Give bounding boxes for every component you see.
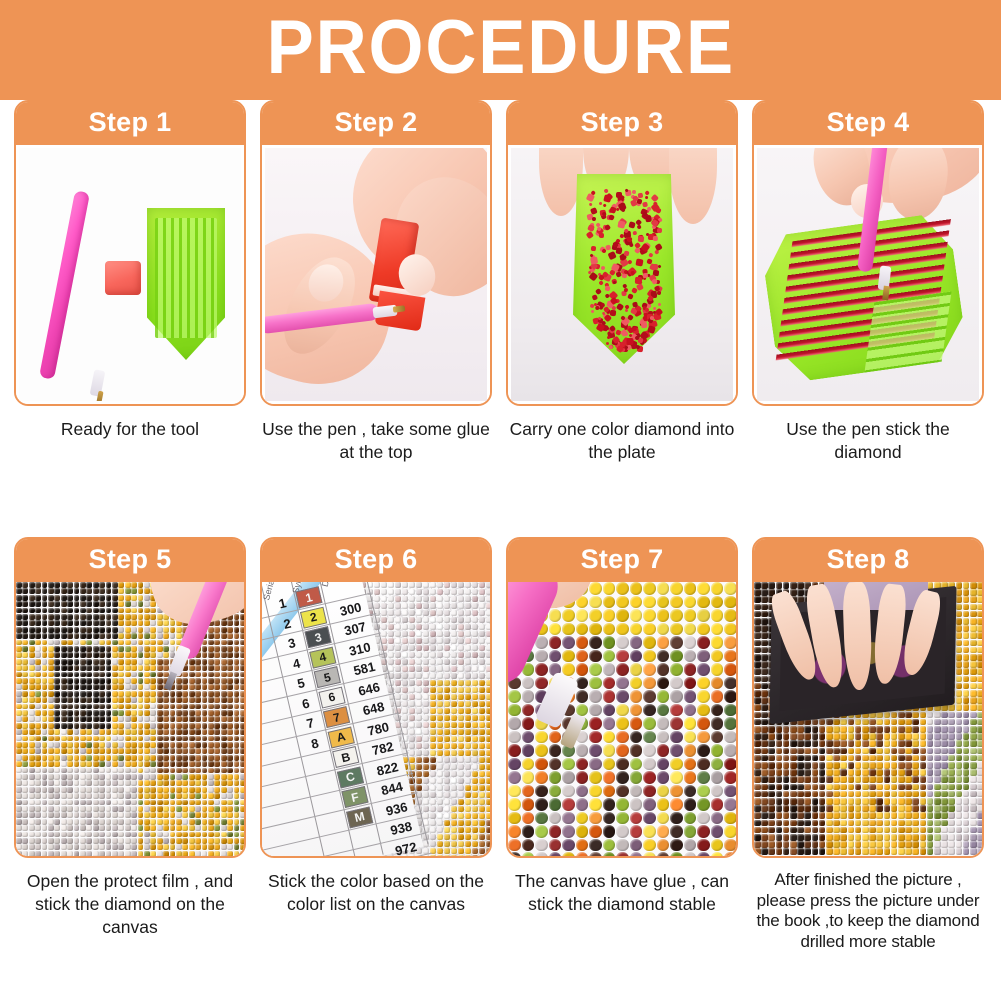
diamond-bead (48, 659, 54, 665)
diamond-bead (118, 755, 124, 761)
diamond-bead (657, 717, 670, 730)
diamond-bead (684, 812, 697, 825)
diamond-bead (465, 827, 471, 833)
diamond-bead (16, 614, 22, 620)
diamond-bead (855, 820, 862, 827)
diamond-bead (826, 805, 833, 812)
diamond-bead (970, 604, 977, 611)
diamond-bead (35, 774, 41, 780)
diamond-bead (106, 620, 112, 626)
diamond-bead (948, 712, 955, 719)
diamond-bead (761, 632, 768, 639)
diamond-bead (240, 755, 244, 761)
diamond-bead (562, 798, 575, 811)
diamond-bead (112, 780, 118, 786)
diamond-bead (423, 708, 429, 714)
diamond-bead (112, 588, 118, 594)
diamond-bead (724, 825, 736, 838)
diamond-bead (934, 805, 941, 812)
diamond-bead (670, 744, 683, 757)
diamond-bead (423, 582, 429, 588)
diamond-bead (927, 820, 934, 827)
diamond-bead (125, 588, 131, 594)
diamond-bead (869, 805, 876, 812)
diamond-bead (48, 774, 54, 780)
diamond-bead (48, 755, 54, 761)
diamond-bead (202, 736, 208, 742)
diamond-bead (956, 676, 963, 683)
diamond-bead (16, 684, 22, 690)
diamond-bead (42, 755, 48, 761)
diamond-bead (221, 748, 227, 754)
diamond-bead (54, 672, 60, 678)
diamond-bead (106, 832, 112, 838)
diamond-bead (35, 832, 41, 838)
diamond-bead (80, 678, 86, 684)
diamond-bead (898, 776, 905, 783)
diamond-bead (444, 603, 450, 609)
diamond-bead (684, 731, 697, 744)
diamond-bead (131, 723, 137, 729)
diamond-bead (29, 768, 35, 774)
diamond-bead (963, 769, 970, 776)
diamond-bead (977, 791, 982, 798)
diamond-bead (905, 827, 912, 834)
diamond-bead (67, 838, 73, 844)
diamond-bead (182, 793, 188, 799)
diamond-bead (227, 768, 233, 774)
diamond-bead (214, 825, 220, 831)
diamond-bead (458, 645, 464, 651)
diamond-bead (472, 855, 478, 856)
diamond-bead (761, 841, 768, 848)
step-7-header: Step 7 (508, 539, 736, 582)
diamond-bead (80, 812, 86, 818)
diamond-bead (934, 726, 941, 733)
diamond-bead (790, 812, 797, 819)
diamond-bead (451, 596, 457, 602)
diamond-bead (42, 838, 48, 844)
diamond-bead (486, 638, 490, 644)
diamond-bead (437, 813, 443, 819)
diamond-bead (956, 776, 963, 783)
diamond-bead (54, 595, 60, 601)
diamond-bead (381, 624, 387, 630)
diamond-bead (54, 812, 60, 818)
diamond-bead (67, 665, 73, 671)
diamond-bead (804, 784, 811, 791)
diamond-bead (576, 785, 589, 798)
diamond-bead (106, 646, 112, 652)
diamond-bead (202, 780, 208, 786)
diamond-bead (214, 755, 220, 761)
diamond-bead (202, 672, 208, 678)
diamond-bead (22, 678, 28, 684)
diamond-bead (131, 742, 137, 748)
diamond-bead (848, 791, 855, 798)
diamond-bead (99, 684, 105, 690)
diamond-bead (977, 733, 982, 740)
diamond-bead (112, 723, 118, 729)
diamond-bead (472, 736, 478, 742)
diamond-bead (67, 646, 73, 652)
diamond-bead (138, 825, 144, 831)
diamond-bead (920, 740, 927, 747)
diamond-bead (144, 787, 150, 793)
diamond-bead (80, 768, 86, 774)
diamond-bead (144, 614, 150, 620)
diamond-drill (632, 190, 636, 194)
diamond-bead (977, 704, 982, 711)
diamond-bead (630, 771, 643, 784)
diamond-bead (214, 793, 220, 799)
diamond-bead (74, 691, 80, 697)
diamond-bead (388, 603, 394, 609)
diamond-bead (202, 691, 208, 697)
diamond-bead (80, 652, 86, 658)
diamond-bead (430, 666, 436, 672)
diamond-drill (591, 309, 595, 313)
diamond-bead (430, 827, 436, 833)
diamond-bead (163, 787, 169, 793)
diamond-bead (833, 733, 840, 740)
diamond-bead (16, 844, 22, 850)
diamond-bead (826, 820, 833, 827)
diamond-bead (472, 757, 478, 763)
diamond-bead (182, 774, 188, 780)
diamond-bead (927, 827, 934, 834)
diamond-bead (227, 793, 233, 799)
diamond-bead (202, 761, 208, 767)
diamond-bead (16, 646, 22, 652)
sleeve-icon (824, 582, 928, 610)
diamond-bead (948, 726, 955, 733)
diamond-bead (486, 617, 490, 623)
diamond-bead (234, 755, 240, 761)
diamond-bead (93, 659, 99, 665)
diamond-bead (86, 697, 92, 703)
diamond-bead (99, 614, 105, 620)
diamond-bead (884, 776, 891, 783)
diamond-bead (956, 632, 963, 639)
diamond-bead (941, 827, 948, 834)
diamond-bead (138, 691, 144, 697)
diamond-bead (934, 834, 941, 841)
diamond-bead (402, 673, 408, 679)
diamond-bead (465, 652, 471, 658)
diamond-bead (93, 684, 99, 690)
diamond-bead (234, 665, 240, 671)
diamond-bead (112, 620, 118, 626)
diamond-bead (234, 652, 240, 658)
diamond-bead (86, 723, 92, 729)
diamond-bead (195, 697, 201, 703)
diamond-bead (240, 780, 244, 786)
diamond-bead (562, 636, 575, 649)
diamond-bead (74, 659, 80, 665)
step-8-header-label: Step 8 (827, 546, 910, 575)
diamond-bead (157, 659, 163, 665)
diamond-drill (637, 235, 644, 242)
diamond-bead (479, 855, 485, 856)
diamond-bead (138, 601, 144, 607)
diamond-bead (535, 798, 548, 811)
diamond-bead (67, 793, 73, 799)
diamond-bead (106, 819, 112, 825)
diamond-bead (437, 785, 443, 791)
diamond-bead (163, 844, 169, 850)
diamond-bead (826, 776, 833, 783)
diamond-bead (833, 748, 840, 755)
diamond-bead (240, 748, 244, 754)
diamond-bead (61, 780, 67, 786)
diamond-drill (618, 221, 626, 229)
diamond-bead (118, 761, 124, 767)
diamond-bead (444, 708, 450, 714)
diamond-bead (522, 798, 535, 811)
diamond-bead (195, 761, 201, 767)
diamond-bead (724, 785, 736, 798)
diamond-bead (437, 834, 443, 840)
diamond-bead (684, 636, 697, 649)
diamond-bead (86, 825, 92, 831)
diamond-bead (479, 715, 485, 721)
diamond-bead (42, 819, 48, 825)
diamond-bead (74, 800, 80, 806)
diamond-bead (112, 800, 118, 806)
diamond-bead (819, 812, 826, 819)
diamond-bead (898, 712, 905, 719)
diamond-bead (150, 716, 156, 722)
diamond-bead (227, 832, 233, 838)
diamond-bead (150, 832, 156, 838)
diamond-bead (170, 787, 176, 793)
diamond-bead (486, 820, 490, 826)
diamond-bead (74, 742, 80, 748)
diamond-bead (833, 762, 840, 769)
diamond-bead (402, 722, 408, 728)
diamond-bead (697, 677, 710, 690)
diamond-bead (934, 784, 941, 791)
step-2-header-label: Step 2 (335, 109, 418, 138)
diamond-bead (898, 740, 905, 747)
diamond-bead (163, 838, 169, 844)
diamond-bead (67, 729, 73, 735)
diamond-bead (29, 633, 35, 639)
step-card-8: Step 8 (752, 537, 984, 1001)
diamond-bead (138, 678, 144, 684)
diamond-bead (131, 608, 137, 614)
diamond-bead (125, 620, 131, 626)
diamond-bead (144, 755, 150, 761)
diamond-bead (42, 684, 48, 690)
diamond-bead (891, 841, 898, 848)
diamond-bead (437, 715, 443, 721)
diamond-bead (208, 652, 214, 658)
diamond-bead (80, 755, 86, 761)
diamond-bead (862, 740, 869, 747)
diamond-bead (93, 787, 99, 793)
diamond-bead (812, 719, 819, 726)
diamond-bead (444, 799, 450, 805)
diamond-bead (430, 652, 436, 658)
diamond-bead (898, 791, 905, 798)
diamond-bead (16, 748, 22, 754)
diamond-bead (221, 832, 227, 838)
diamond-bead (876, 834, 883, 841)
diamond-bead (35, 729, 41, 735)
diamond-bead (125, 659, 131, 665)
diamond-bead (848, 812, 855, 819)
diamond-bead (826, 733, 833, 740)
diamond-bead (812, 755, 819, 762)
diamond-bead (99, 627, 105, 633)
diamond-bead (549, 744, 562, 757)
diamond-bead (170, 806, 176, 812)
diamond-bead (221, 800, 227, 806)
diamond-bead (131, 729, 137, 735)
diamond-bead (761, 690, 768, 697)
diamond-bead (86, 684, 92, 690)
diamond-bead (42, 608, 48, 614)
diamond-bead (214, 748, 220, 754)
diamond-bead (48, 640, 54, 646)
diamond-bead (927, 726, 934, 733)
diamond-bead (195, 678, 201, 684)
diamond-bead (977, 784, 982, 791)
diamond-bead (125, 768, 131, 774)
diamond-bead (970, 733, 977, 740)
diamond-bead (214, 768, 220, 774)
diamond-bead (234, 780, 240, 786)
diamond-bead (812, 769, 819, 776)
diamond-bead (423, 722, 429, 728)
diamond-bead (768, 748, 775, 755)
diamond-bead (144, 748, 150, 754)
diamond-bead (458, 757, 464, 763)
diamond-bead (195, 851, 201, 856)
diamond-bead (125, 672, 131, 678)
diamond-bead (93, 614, 99, 620)
diamond-bead (214, 691, 220, 697)
diamond-bead (29, 704, 35, 710)
diamond-bead (956, 820, 963, 827)
diamond-bead (214, 716, 220, 722)
diamond-bead (182, 716, 188, 722)
step-6-body: SerialSymbolDMC1122300333074431055581666… (262, 582, 490, 856)
diamond-bead (970, 690, 977, 697)
diamond-bead (106, 665, 112, 671)
diamond-bead (182, 838, 188, 844)
diamond-bead (234, 646, 240, 652)
step-3-card: Step 3 (506, 100, 738, 406)
diamond-bead (182, 768, 188, 774)
diamond-bead (93, 582, 99, 588)
diamond-bead (93, 748, 99, 754)
diamond-bead (761, 798, 768, 805)
diamond-bead (819, 776, 826, 783)
diamond-bead (195, 793, 201, 799)
diamond-bead (29, 646, 35, 652)
diamond-bead (508, 785, 521, 798)
diamond-bead (35, 588, 41, 594)
diamond-bead (603, 596, 616, 609)
diamond-bead (465, 624, 471, 630)
diamond-bead (61, 819, 67, 825)
diamond-bead (437, 589, 443, 595)
diamond-bead (977, 618, 982, 625)
diamond-bead (106, 793, 112, 799)
diamond-bead (144, 800, 150, 806)
diamond-bead (16, 704, 22, 710)
diamond-bead (819, 784, 826, 791)
diamond-bead (444, 610, 450, 616)
diamond-bead (970, 812, 977, 819)
diamond-bead (472, 582, 478, 588)
diamond-bead (214, 633, 220, 639)
diamond-bead (189, 691, 195, 697)
diamond-bead (112, 684, 118, 690)
diamond-bead (409, 638, 415, 644)
diamond-bead (486, 736, 490, 742)
diamond-bead (724, 771, 736, 784)
diamond-bead (934, 748, 941, 755)
diamond-bead (118, 582, 124, 588)
diamond-bead (920, 776, 927, 783)
diamond-bead (374, 589, 380, 595)
diamond-bead (221, 627, 227, 633)
diamond-bead (754, 805, 761, 812)
diamond-bead (948, 798, 955, 805)
diamond-bead (125, 697, 131, 703)
diamond-bead (589, 663, 602, 676)
diamond-bead (16, 838, 22, 844)
diamond-bead (138, 697, 144, 703)
diamond-bead (416, 687, 422, 693)
diamond-bead (29, 806, 35, 812)
diamond-bead (176, 755, 182, 761)
diamond-bead (912, 733, 919, 740)
diamond-bead (657, 609, 670, 622)
diamond-bead (643, 663, 656, 676)
diamond-bead (458, 813, 464, 819)
diamond-bead (508, 758, 521, 771)
diamond-bead (29, 774, 35, 780)
diamond-bead (106, 812, 112, 818)
diamond-bead (522, 677, 535, 690)
diamond-bead (125, 665, 131, 671)
diamond-bead (549, 771, 562, 784)
diamond-bead (208, 723, 214, 729)
diamond-bead (131, 806, 137, 812)
diamond-bead (437, 757, 443, 763)
diamond-bead (840, 769, 847, 776)
diamond-bead (54, 838, 60, 844)
diamond-bead (963, 748, 970, 755)
diamond-bead (970, 683, 977, 690)
diamond-bead (214, 678, 220, 684)
diamond-bead (630, 677, 643, 690)
diamond-bead (234, 832, 240, 838)
diamond-bead (970, 827, 977, 834)
diamond-bead (472, 806, 478, 812)
steps-row-bottom: Step 5 Open the protect film , and stick… (0, 537, 1001, 1001)
diamond-bead (22, 844, 28, 850)
diamond-bead (48, 684, 54, 690)
diamond-bead (227, 697, 233, 703)
diamond-bead (35, 704, 41, 710)
diamond-bead (402, 610, 408, 616)
